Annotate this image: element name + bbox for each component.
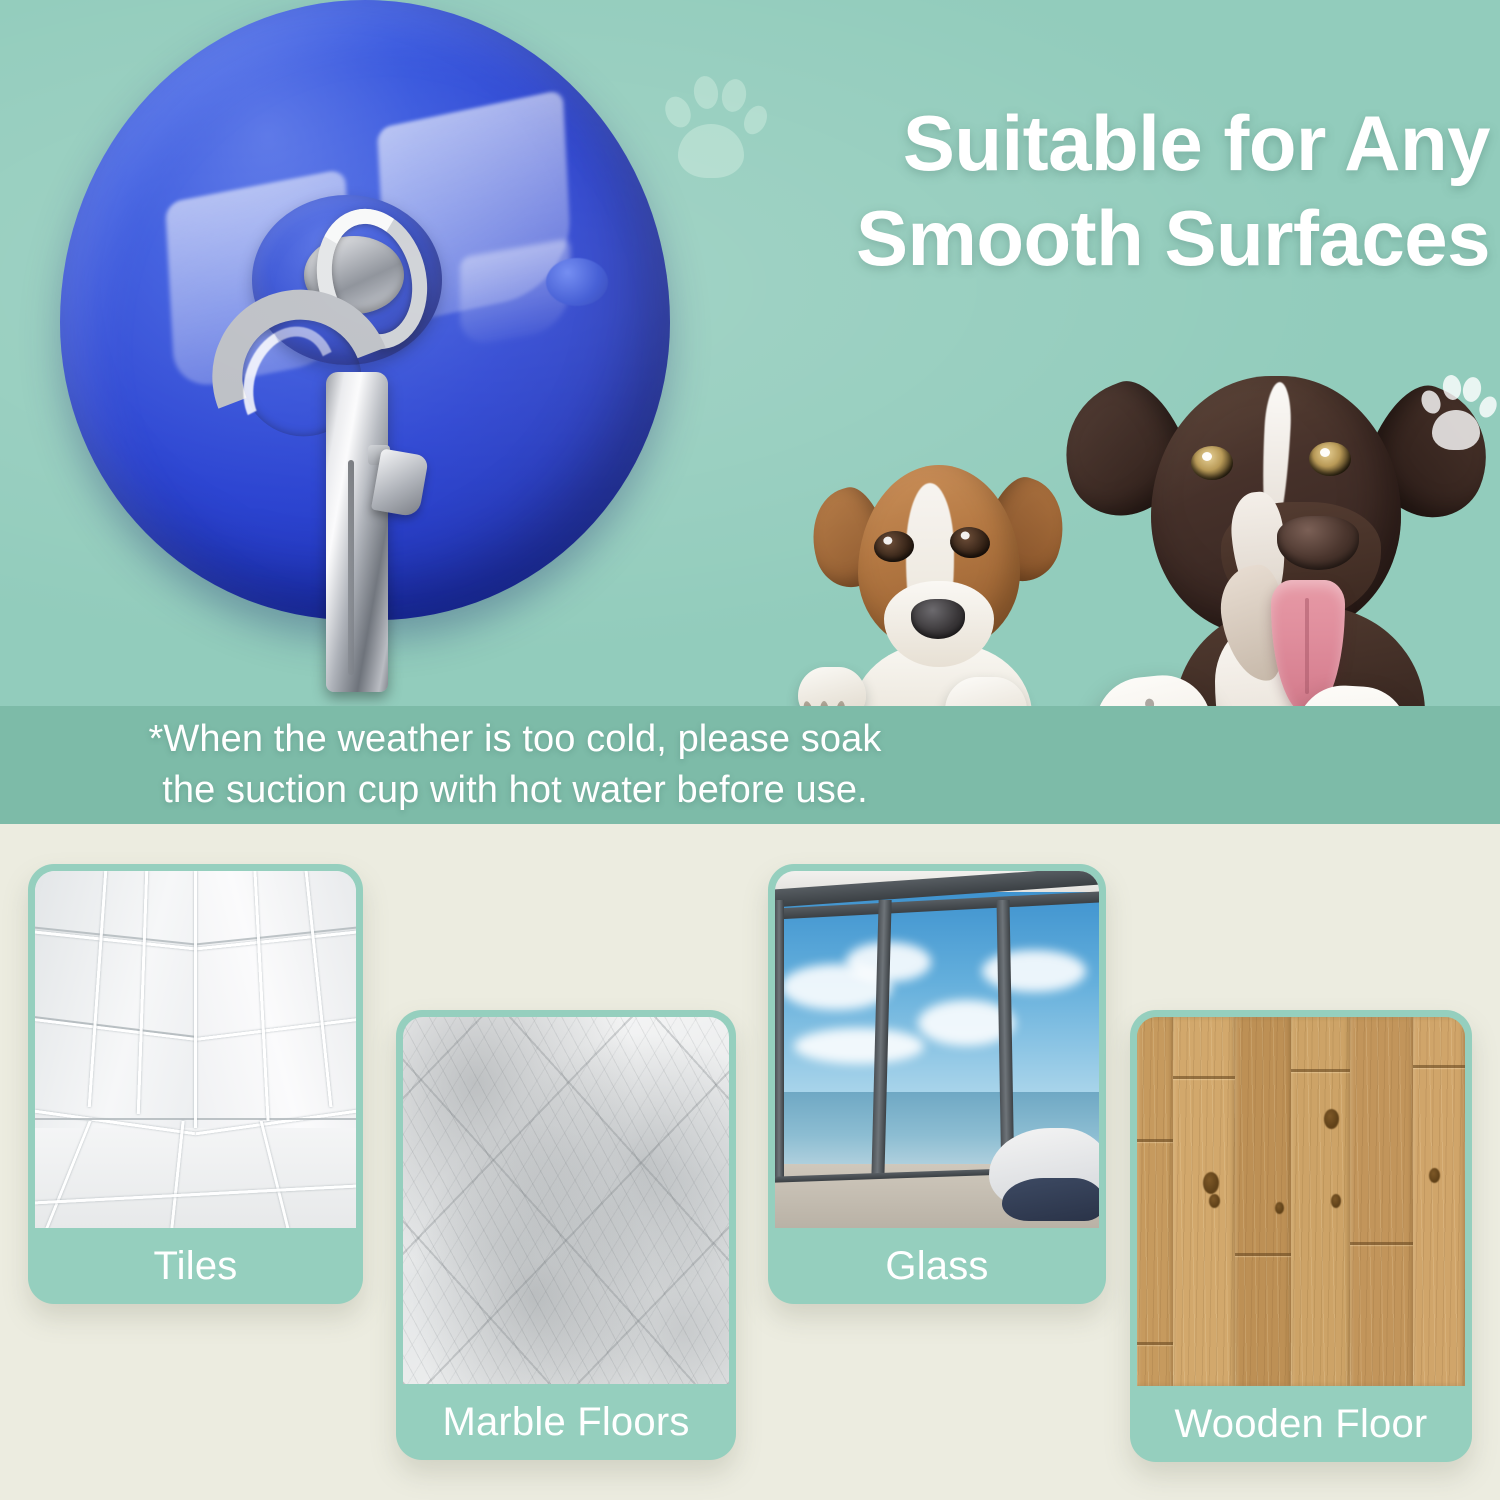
wood-plank <box>1413 1017 1465 1386</box>
care-note-text: *When the weather is too cold, please so… <box>0 714 1030 815</box>
bathroom-tile-illustration <box>35 871 356 1228</box>
grout-line-corner <box>194 871 197 1128</box>
surface-card-label: Marble Floors <box>403 1384 729 1460</box>
page-title: Suitable for Any Smooth Surfaces <box>700 96 1490 286</box>
paw-pad <box>1432 410 1480 450</box>
wood-plank <box>1235 1017 1291 1386</box>
plank-seam <box>1413 1065 1465 1068</box>
daybed-base <box>1002 1178 1099 1221</box>
paw-toe <box>1418 387 1444 416</box>
tiles-photo <box>35 871 356 1228</box>
wood-plank <box>1291 1017 1350 1386</box>
paw-print-icon <box>1418 372 1496 452</box>
tile-floor <box>35 1128 356 1228</box>
cup-tab-nub <box>546 258 608 306</box>
headline-line-1: Suitable for Any <box>903 99 1490 187</box>
sliding-glass-door-illustration <box>775 871 1099 1228</box>
plank-seam <box>1173 1076 1235 1079</box>
surface-card-label: Wooden Floor <box>1137 1386 1465 1462</box>
care-note-line-1: *When the weather is too cold, please so… <box>149 718 882 760</box>
plank-seam <box>1235 1253 1291 1256</box>
dog-eye <box>1309 442 1351 476</box>
hero-section: Suitable for Any Smooth Surfaces <box>0 0 1500 712</box>
surface-card-label: Tiles <box>35 1228 356 1304</box>
oak-plank-illustration <box>1137 1017 1465 1386</box>
snap-hook-seam <box>348 460 354 675</box>
wood-plank <box>1137 1017 1173 1386</box>
wood-photo <box>1137 1017 1465 1386</box>
care-note-line-2: the suction cup with hot water before us… <box>0 765 1030 816</box>
snap-hook-shank <box>326 372 388 692</box>
surface-card-wooden-floor: Wooden Floor <box>1130 1010 1472 1462</box>
headline-line-2: Smooth Surfaces <box>700 191 1490 286</box>
wood-knot <box>1275 1202 1284 1214</box>
paw-toe <box>1461 376 1483 404</box>
tile-wall-right <box>196 871 357 1128</box>
wood-plank <box>1350 1017 1412 1386</box>
glass-photo <box>775 871 1099 1228</box>
dog-eye <box>1191 446 1233 480</box>
plank-seam <box>1137 1139 1173 1142</box>
marble-tile-illustration <box>403 1017 729 1384</box>
surface-card-marble-floors: Marble Floors <box>396 1010 736 1460</box>
plank-seam <box>1137 1342 1173 1345</box>
marble-photo <box>403 1017 729 1384</box>
wood-knot <box>1331 1194 1341 1208</box>
paw-toe <box>661 93 696 132</box>
suction-cup-product-image <box>30 0 690 690</box>
door-frame-left <box>775 900 784 1178</box>
surface-card-label: Glass <box>775 1228 1099 1304</box>
paw-toe <box>1441 374 1462 401</box>
plank-seam <box>1350 1242 1412 1245</box>
surface-card-glass: Glass <box>768 864 1106 1304</box>
plank-seam <box>1291 1069 1350 1072</box>
wood-knot <box>1203 1172 1219 1194</box>
cloud <box>794 1028 924 1064</box>
surface-card-tiles: Tiles <box>28 864 363 1304</box>
tile-wall-left <box>35 871 196 1128</box>
wood-plank <box>1173 1017 1235 1386</box>
